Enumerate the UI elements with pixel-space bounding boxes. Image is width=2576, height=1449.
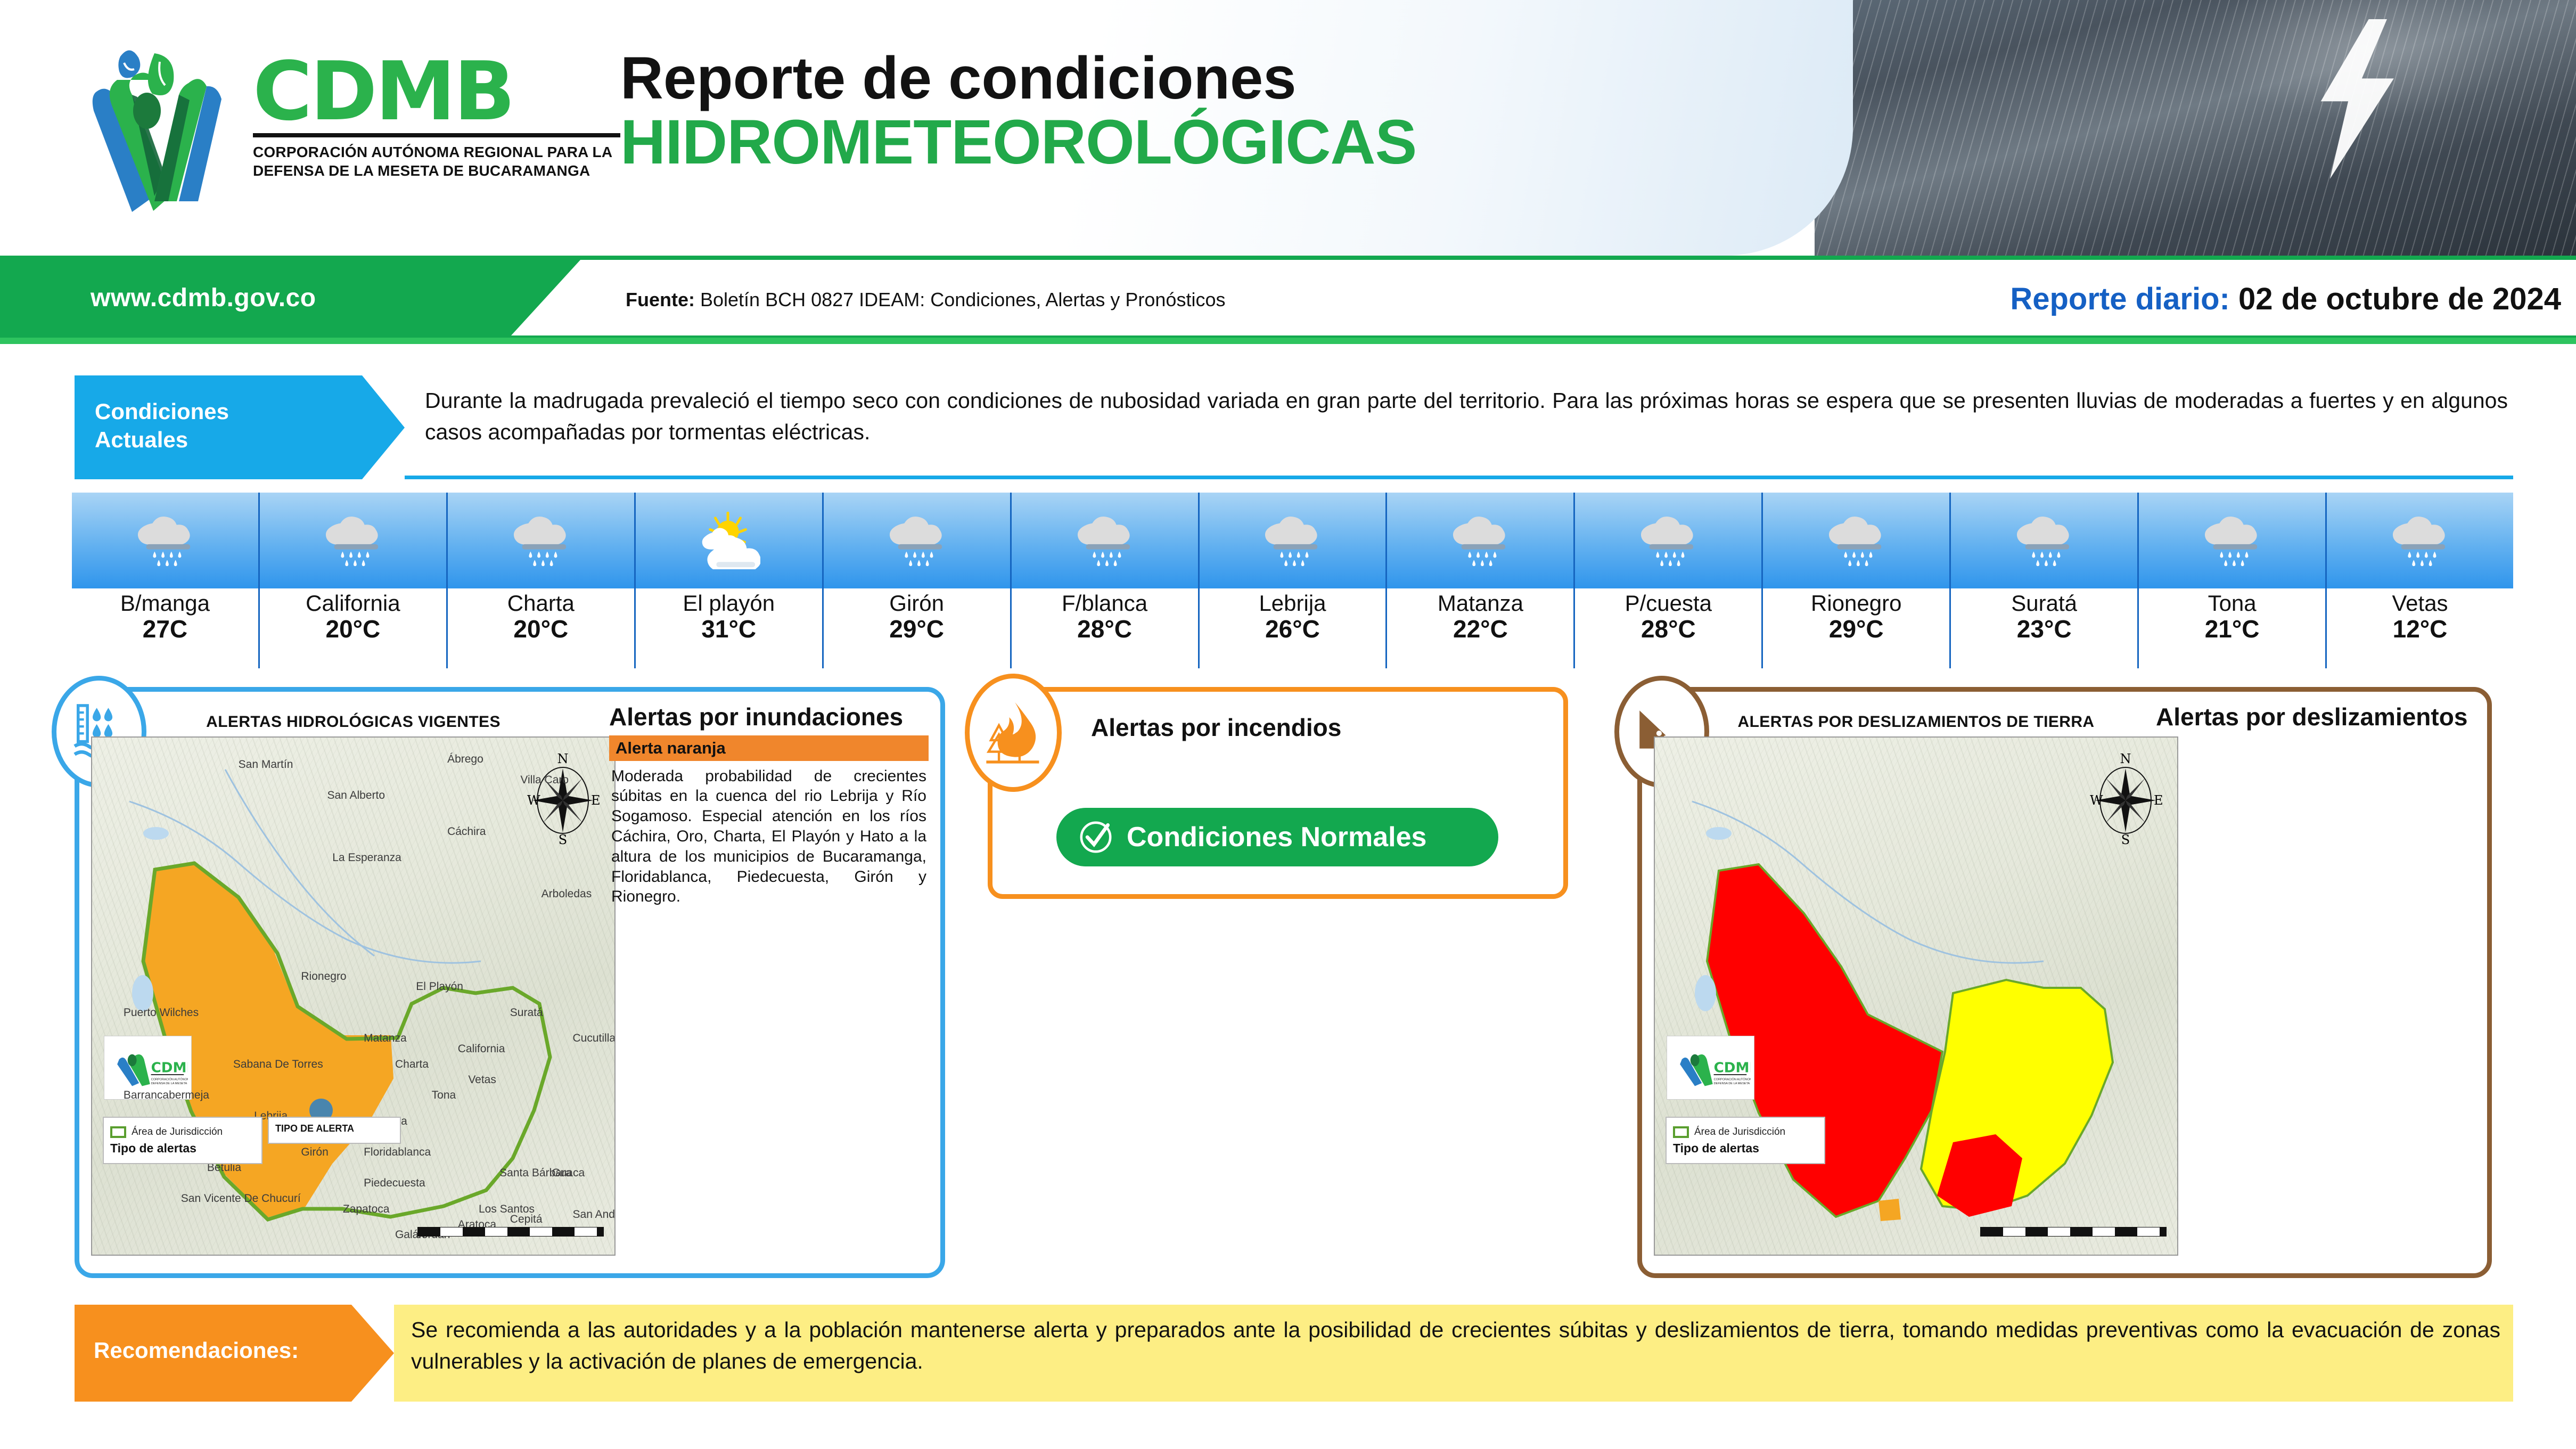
map-place-label: San Alberto bbox=[327, 789, 385, 802]
landslide-map-canvas[interactable]: N S W E CDMB CORPORACI bbox=[1654, 736, 2178, 1256]
weather-cell-california: California 20°C bbox=[260, 493, 448, 668]
weather-cell-matanza: Matanza 22°C bbox=[1387, 493, 1575, 668]
weather-labels: Matanza 22°C bbox=[1387, 588, 1573, 668]
weather-labels: California 20°C bbox=[260, 588, 446, 668]
map-place-label: Suratá bbox=[510, 1006, 543, 1019]
weather-icon-box bbox=[636, 493, 822, 588]
weather-labels: Tona 21°C bbox=[2139, 588, 2325, 668]
recommendations-tab: Recomendaciones: bbox=[75, 1305, 394, 1402]
rain-cloud-icon bbox=[1825, 512, 1888, 569]
svg-text:W: W bbox=[2090, 793, 2103, 808]
current-conditions-tab-line2: Actuales bbox=[95, 426, 405, 454]
weather-labels: Charta 20°C bbox=[448, 588, 634, 668]
legend2-title: TIPO DE ALERTA bbox=[275, 1123, 393, 1134]
rain-cloud-icon bbox=[134, 512, 196, 569]
weather-cell-vetas: Vetas 12°C bbox=[2327, 493, 2513, 668]
weather-icon-box bbox=[1763, 493, 1949, 588]
report-date-value: 02 de octubre de 2024 bbox=[2230, 282, 2561, 316]
map-place-label: El Playón bbox=[416, 980, 463, 993]
weather-labels: El playón 31°C bbox=[636, 588, 822, 668]
header: CDMB CORPORACIÓN AUTÓNOMA REGIONAL PARA … bbox=[0, 0, 2576, 256]
city-name: Tona bbox=[2139, 592, 2325, 615]
weather-cell-elplayn: El playón 31°C bbox=[636, 493, 824, 668]
alerts-section: ALERTAS HIDROLÓGICAS VIGENTES bbox=[0, 679, 2576, 1286]
city-temperature: 20°C bbox=[260, 615, 446, 643]
flood-map-canvas[interactable]: N S W E CDMB CORPORACI bbox=[91, 736, 616, 1256]
city-name: Matanza bbox=[1387, 592, 1573, 615]
map-place-label: Puerto Wilches bbox=[124, 1006, 199, 1019]
city-name: F/blanca bbox=[1012, 592, 1198, 615]
current-conditions-text: Durante la madrugada prevaleció el tiemp… bbox=[405, 375, 2513, 479]
current-conditions-tab-line1: Condiciones bbox=[95, 398, 405, 426]
rain-cloud-icon bbox=[322, 512, 384, 569]
weather-icon-box bbox=[448, 493, 634, 588]
weather-cell-surat: Suratá 23°C bbox=[1951, 493, 2139, 668]
map-place-label: San Vicente De Chucurí bbox=[181, 1192, 301, 1205]
flood-map: ALERTAS HIDROLÓGICAS VIGENTES bbox=[91, 703, 616, 1263]
weather-labels: P/cuesta 28°C bbox=[1575, 588, 1761, 668]
weather-cell-bmanga: B/manga 27C bbox=[72, 493, 260, 668]
map-place-label: Villa Caro bbox=[520, 774, 569, 787]
weather-icon-box bbox=[2139, 493, 2325, 588]
city-name: El playón bbox=[636, 592, 822, 615]
map-place-label: Guaca bbox=[552, 1167, 585, 1180]
forest-fire-icon bbox=[981, 695, 1045, 770]
city-name: Girón bbox=[824, 592, 1010, 615]
svg-text:CORPORACIÓN AUTÓNOMA REGIONAL: CORPORACIÓN AUTÓNOMA REGIONAL PARA LA bbox=[151, 1077, 187, 1081]
weather-cell-pcuesta: P/cuesta 28°C bbox=[1575, 493, 1763, 668]
map-place-label: Matanza bbox=[364, 1032, 407, 1045]
map-place-label: Vetas bbox=[468, 1074, 496, 1086]
logo-wordmark: CDMB bbox=[253, 53, 626, 130]
map-place-label: California bbox=[458, 1043, 505, 1055]
svg-text:W: W bbox=[527, 793, 540, 808]
rain-cloud-icon bbox=[2201, 512, 2263, 569]
city-temperature: 21°C bbox=[2139, 615, 2325, 643]
source-label: Fuente: bbox=[626, 289, 695, 310]
svg-text:N: N bbox=[557, 751, 569, 766]
city-temperature: 28°C bbox=[1575, 615, 1761, 643]
map-place-label: Barrancabermeja bbox=[124, 1089, 209, 1102]
map-place-label: Rionegro bbox=[301, 970, 346, 983]
city-temperature: 28°C bbox=[1012, 615, 1198, 643]
rain-cloud-icon bbox=[885, 512, 948, 569]
city-temperature: 31°C bbox=[636, 615, 822, 643]
legend-jurisdiction-label: Área de Jurisdicción bbox=[1694, 1126, 1785, 1138]
green-bar-underline bbox=[0, 338, 2576, 344]
city-temperature: 26°C bbox=[1200, 615, 1386, 643]
fire-badge bbox=[965, 674, 1062, 792]
svg-text:DEFENSA DE LA MESETA DE BUCARA: DEFENSA DE LA MESETA DE BUCARAMANGA bbox=[1713, 1082, 1750, 1085]
flood-section-title: Alertas por inundaciones bbox=[609, 703, 929, 731]
legend-types-title: Tipo de alertas bbox=[110, 1141, 255, 1156]
map-place-label: Cepitá bbox=[510, 1213, 543, 1226]
weather-labels: Suratá 23°C bbox=[1951, 588, 2137, 668]
weather-icon-box bbox=[2327, 493, 2513, 588]
map-place-label: Floridablanca bbox=[364, 1146, 431, 1159]
svg-text:E: E bbox=[591, 793, 601, 808]
landslide-map-scalebar bbox=[1980, 1226, 2167, 1237]
map-place-label: San Martín bbox=[239, 758, 293, 771]
check-circle-icon bbox=[1078, 819, 1114, 855]
flood-alert-level: Alerta naranja bbox=[609, 735, 929, 761]
flood-alert-details: Alertas por inundaciones Alerta naranja … bbox=[609, 703, 929, 914]
flood-map-title: ALERTAS HIDROLÓGICAS VIGENTES bbox=[91, 703, 616, 736]
svg-text:S: S bbox=[2121, 832, 2130, 847]
map-place-label: Piedecuesta bbox=[364, 1177, 425, 1190]
lightning-icon bbox=[2296, 19, 2414, 179]
fire-alerts-panel: Alertas por incendios Condiciones Normal… bbox=[988, 687, 1568, 899]
flood-legend-types: TIPO DE ALERTA bbox=[268, 1117, 401, 1144]
compass-rose-icon: N S W E bbox=[523, 747, 603, 848]
current-conditions-tab: Condiciones Actuales bbox=[75, 375, 405, 479]
scalebar-graphic bbox=[1980, 1227, 2167, 1237]
landslide-map: ALERTAS POR DESLIZAMIENTOS DE TIERRA bbox=[1654, 703, 2178, 1263]
city-name: California bbox=[260, 592, 446, 615]
weather-labels: Rionegro 29°C bbox=[1763, 588, 1949, 668]
city-temperature: 27C bbox=[72, 615, 258, 643]
map-place-label: Sabana De Torres bbox=[233, 1058, 323, 1071]
landslide-alerts-panel: ALERTAS POR DESLIZAMIENTOS DE TIERRA bbox=[1637, 687, 2492, 1278]
map-place-label: Cucutilla bbox=[573, 1032, 616, 1045]
weather-icon-box bbox=[1012, 493, 1198, 588]
city-name: B/manga bbox=[72, 592, 258, 615]
weather-cell-fblanca: F/blanca 28°C bbox=[1012, 493, 1200, 668]
flood-map-scalebar bbox=[417, 1226, 604, 1237]
report-page: CDMB CORPORACIÓN AUTÓNOMA REGIONAL PARA … bbox=[0, 0, 2576, 1449]
city-name: P/cuesta bbox=[1575, 592, 1761, 615]
city-temperature: 20°C bbox=[448, 615, 634, 643]
map-place-label: Tona bbox=[432, 1089, 456, 1102]
map-place-label: Ábrego bbox=[447, 753, 483, 766]
rain-cloud-icon bbox=[2389, 512, 2451, 569]
weather-labels: F/blanca 28°C bbox=[1012, 588, 1198, 668]
rain-cloud-icon bbox=[1449, 512, 1512, 569]
svg-text:N: N bbox=[2120, 751, 2131, 766]
org-name-line2: DEFENSA DE LA MESETA DE BUCARAMANGA bbox=[253, 161, 626, 180]
city-name: Rionegro bbox=[1763, 592, 1949, 615]
current-conditions-section: Condiciones Actuales Durante la madrugad… bbox=[75, 375, 2513, 479]
rain-texture bbox=[1815, 0, 2576, 256]
map-place-label: Zapatoca bbox=[343, 1203, 390, 1216]
svg-text:S: S bbox=[559, 832, 567, 847]
landslide-map-title: ALERTAS POR DESLIZAMIENTOS DE TIERRA bbox=[1654, 703, 2178, 736]
fire-status-badge: Condiciones Normales bbox=[1056, 808, 1498, 866]
map-place-label: Cáchira bbox=[447, 825, 486, 838]
jurisdiction-swatch-icon bbox=[1673, 1126, 1689, 1138]
city-name: Suratá bbox=[1951, 592, 2137, 615]
weather-cell-lebrija: Lebrija 26°C bbox=[1200, 493, 1388, 668]
weather-cell-girn: Girón 29°C bbox=[824, 493, 1012, 668]
weather-icon-box bbox=[1387, 493, 1573, 588]
weather-icon-box bbox=[1575, 493, 1761, 588]
rain-cloud-icon bbox=[1261, 512, 1324, 569]
weather-icon-box bbox=[72, 493, 258, 588]
map-place-label: San Andrés bbox=[573, 1208, 616, 1221]
rain-cloud-icon bbox=[510, 512, 572, 569]
svg-text:CDMB: CDMB bbox=[1713, 1060, 1750, 1076]
rain-cloud-icon bbox=[1637, 512, 1700, 569]
rain-cloud-icon bbox=[1073, 512, 1136, 569]
weather-labels: Lebrija 26°C bbox=[1200, 588, 1386, 668]
website-url[interactable]: www.cdmb.gov.co bbox=[91, 283, 316, 313]
city-name: Vetas bbox=[2327, 592, 2513, 615]
weather-labels: Girón 29°C bbox=[824, 588, 1010, 668]
weather-cell-tona: Tona 21°C bbox=[2139, 493, 2327, 668]
sun-cloud-icon bbox=[698, 512, 760, 569]
weather-cell-rionegro: Rionegro 29°C bbox=[1763, 493, 1951, 668]
weather-cell-charta: Charta 20°C bbox=[448, 493, 636, 668]
weather-icon-box bbox=[1951, 493, 2137, 588]
city-name: Charta bbox=[448, 592, 634, 615]
legend-jurisdiction-label: Área de Jurisdicción bbox=[132, 1126, 223, 1138]
legend-types-title: Tipo de alertas bbox=[1673, 1141, 1818, 1156]
flood-alerts-panel: ALERTAS HIDROLÓGICAS VIGENTES bbox=[75, 687, 945, 1278]
title-line-2: HIDROMETEOROLÓGICAS bbox=[620, 110, 1416, 176]
svg-text:E: E bbox=[2154, 793, 2163, 808]
city-name: Lebrija bbox=[1200, 592, 1386, 615]
storm-photo bbox=[1815, 0, 2576, 256]
recommendations-section: Recomendaciones: Se recomienda a las aut… bbox=[75, 1305, 2513, 1402]
source-text: Boletín BCH 0827 IDEAM: Condiciones, Ale… bbox=[695, 289, 1225, 310]
city-temperature: 23°C bbox=[1951, 615, 2137, 643]
city-temperature: 29°C bbox=[824, 615, 1010, 643]
weather-icon-box bbox=[1200, 493, 1386, 588]
city-temperature: 12°C bbox=[2327, 615, 2513, 643]
report-title: Reporte de condiciones HIDROMETEOROLÓGIC… bbox=[620, 47, 1416, 175]
weather-labels: Vetas 12°C bbox=[2327, 588, 2513, 668]
weather-icon-box bbox=[260, 493, 446, 588]
map-place-label: Charta bbox=[395, 1058, 429, 1071]
map-place-label: Girón bbox=[301, 1146, 328, 1159]
cdmb-logo: CDMB CORPORACIÓN AUTÓNOMA REGIONAL PARA … bbox=[75, 42, 628, 217]
report-date-line: Reporte diario: 02 de octubre de 2024 bbox=[2010, 281, 2561, 317]
city-temperature: 22°C bbox=[1387, 615, 1573, 643]
title-line-1: Reporte de condiciones bbox=[620, 47, 1416, 110]
weather-labels: B/manga 27C bbox=[72, 588, 258, 668]
org-name-line1: CORPORACIÓN AUTÓNOMA REGIONAL PARA LA bbox=[253, 143, 626, 161]
legend-jurisdiction: Área de Jurisdicción bbox=[1673, 1126, 1818, 1138]
map-place-label: La Esperanza bbox=[332, 852, 401, 864]
flood-legend: Área de Jurisdicción Tipo de alertas bbox=[103, 1117, 262, 1164]
svg-text:CDMB: CDMB bbox=[151, 1060, 187, 1076]
cdmb-logo-mark bbox=[75, 42, 250, 217]
landslide-legend: Área de Jurisdicción Tipo de alertas bbox=[1666, 1117, 1825, 1164]
recommendations-text: Se recomienda a las autoridades y a la p… bbox=[394, 1305, 2513, 1402]
landslide-section-title: Alertas por deslizamientos bbox=[2156, 703, 2475, 731]
map-watermark-logo: CDMB CORPORACIÓN AUTÓNOMA REGIONAL PARA … bbox=[1667, 1036, 1754, 1100]
svg-text:CORPORACIÓN AUTÓNOMA REGIONAL: CORPORACIÓN AUTÓNOMA REGIONAL PARA LA bbox=[1713, 1077, 1750, 1081]
scalebar-graphic bbox=[417, 1227, 604, 1237]
rain-cloud-icon bbox=[2013, 512, 2075, 569]
green-info-bar: www.cdmb.gov.co Fuente: Boletín BCH 0827… bbox=[0, 256, 2576, 341]
svg-text:DEFENSA DE LA MESETA DE BUCARA: DEFENSA DE LA MESETA DE BUCARAMANGA bbox=[151, 1082, 187, 1085]
weather-strip: B/manga 27C California 20°C Charta 20°C … bbox=[72, 493, 2513, 668]
report-date-label: Reporte diario: bbox=[2010, 282, 2230, 316]
city-temperature: 29°C bbox=[1763, 615, 1949, 643]
jurisdiction-swatch-icon bbox=[110, 1126, 126, 1138]
flood-alert-text: Moderada probabilidad de crecientes súbi… bbox=[609, 761, 929, 915]
source-line: Fuente: Boletín BCH 0827 IDEAM: Condicio… bbox=[626, 289, 1225, 311]
weather-icon-box bbox=[824, 493, 1010, 588]
fire-section-title: Alertas por incendios bbox=[1091, 714, 1341, 742]
compass-rose-icon: N S W E bbox=[2086, 747, 2165, 848]
fire-status-label: Condiciones Normales bbox=[1127, 821, 1426, 853]
landslide-alert-details: Alertas por deslizamientos bbox=[2156, 703, 2475, 735]
legend-jurisdiction: Área de Jurisdicción bbox=[110, 1126, 255, 1138]
map-place-label: Arboledas bbox=[542, 888, 592, 900]
